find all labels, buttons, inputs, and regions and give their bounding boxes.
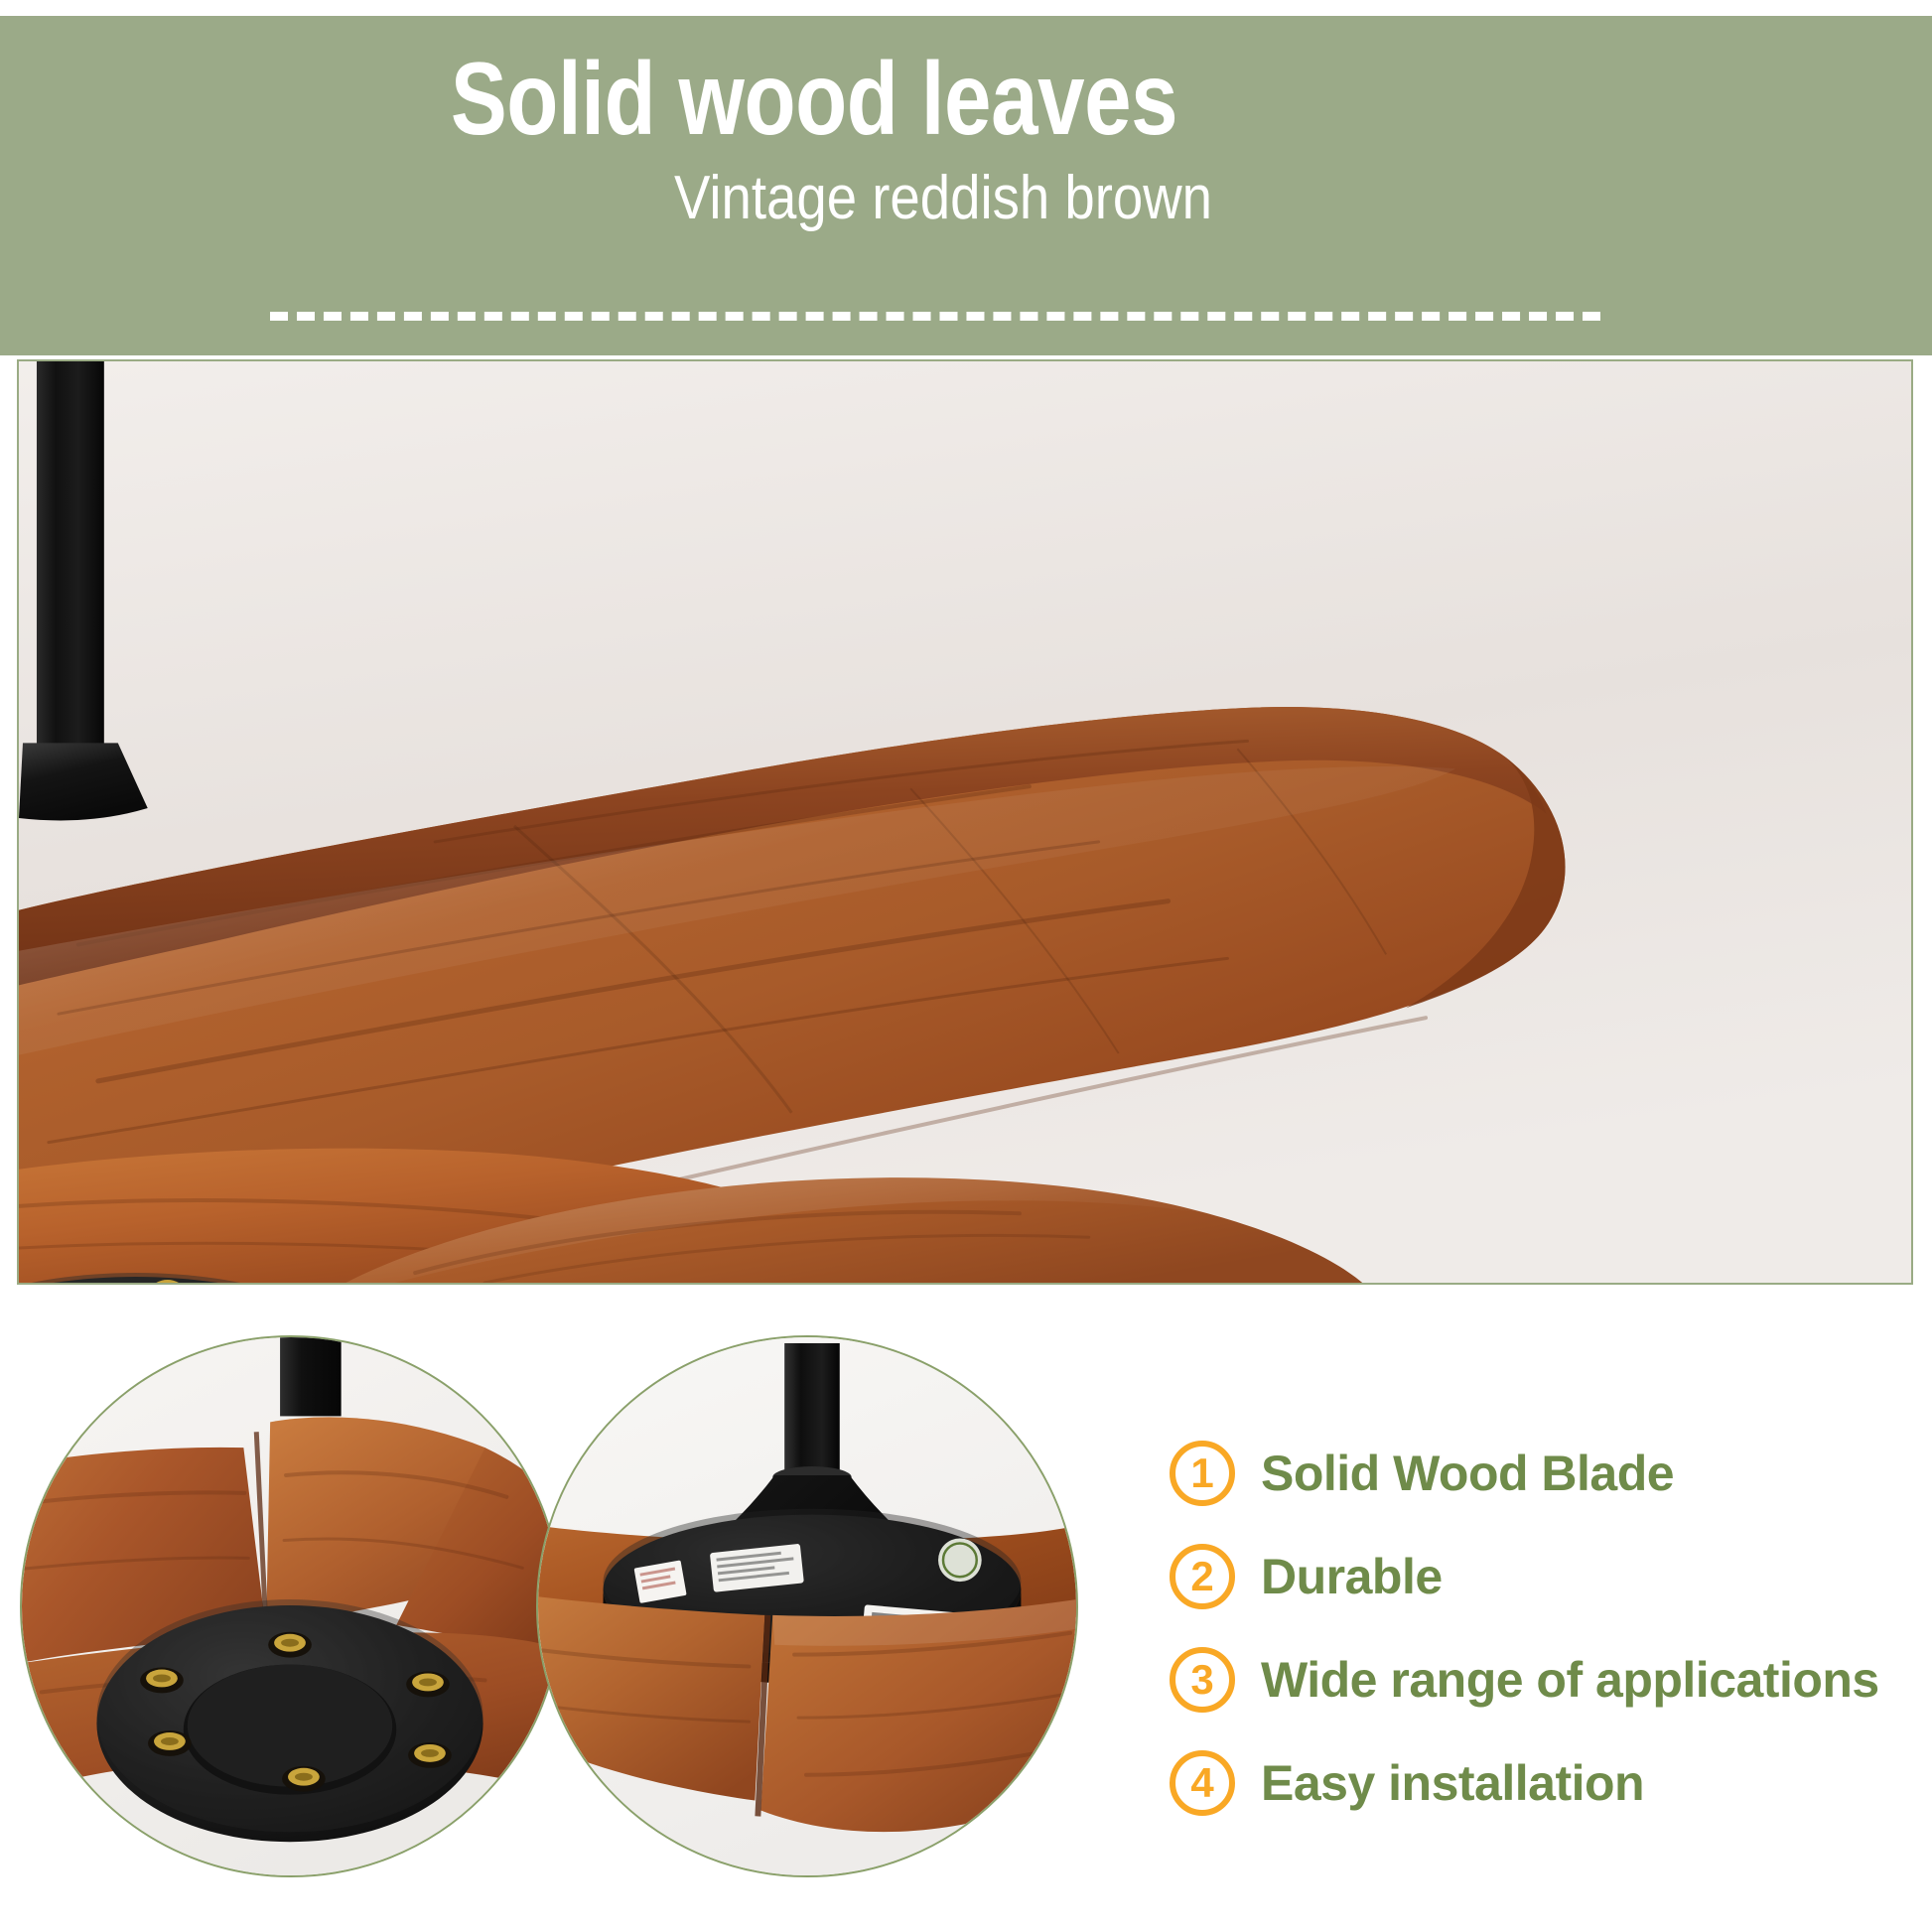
page-title: Solid wood leaves: [147, 44, 1482, 155]
feature-item-1: 1 Solid Wood Blade: [1170, 1422, 1924, 1525]
header-banner: Solid wood leaves Vintage reddish brown: [0, 16, 1932, 355]
feature-item-3: 3 Wide range of applications: [1170, 1628, 1924, 1731]
feature-list: 1 Solid Wood Blade 2 Durable 3 Wide rang…: [1170, 1422, 1924, 1835]
feature-number-badge-1: 1: [1170, 1441, 1235, 1506]
feature-number-badge-3: 3: [1170, 1647, 1235, 1713]
feature-number-badge-2: 2: [1170, 1544, 1235, 1609]
page-subtitle: Vintage reddish brown: [113, 163, 1773, 234]
feature-label-4: Easy installation: [1261, 1754, 1644, 1812]
feature-number-badge-4: 4: [1170, 1750, 1235, 1816]
feature-label-3: Wide range of applications: [1261, 1651, 1879, 1709]
blade-mount-illustration: [22, 1337, 560, 1875]
detail-circle-blade-mount: [20, 1335, 562, 1877]
feature-label-2: Durable: [1261, 1548, 1443, 1605]
feature-item-4: 4 Easy installation: [1170, 1731, 1924, 1835]
hero-product-image: [17, 359, 1913, 1285]
detail-circle-motor-housing: [536, 1335, 1078, 1877]
header-dashed-divider: [270, 312, 1600, 321]
feature-label-1: Solid Wood Blade: [1261, 1445, 1674, 1502]
hero-illustration: [19, 361, 1911, 1283]
feature-item-2: 2 Durable: [1170, 1525, 1924, 1628]
motor-housing-illustration: [538, 1337, 1076, 1875]
